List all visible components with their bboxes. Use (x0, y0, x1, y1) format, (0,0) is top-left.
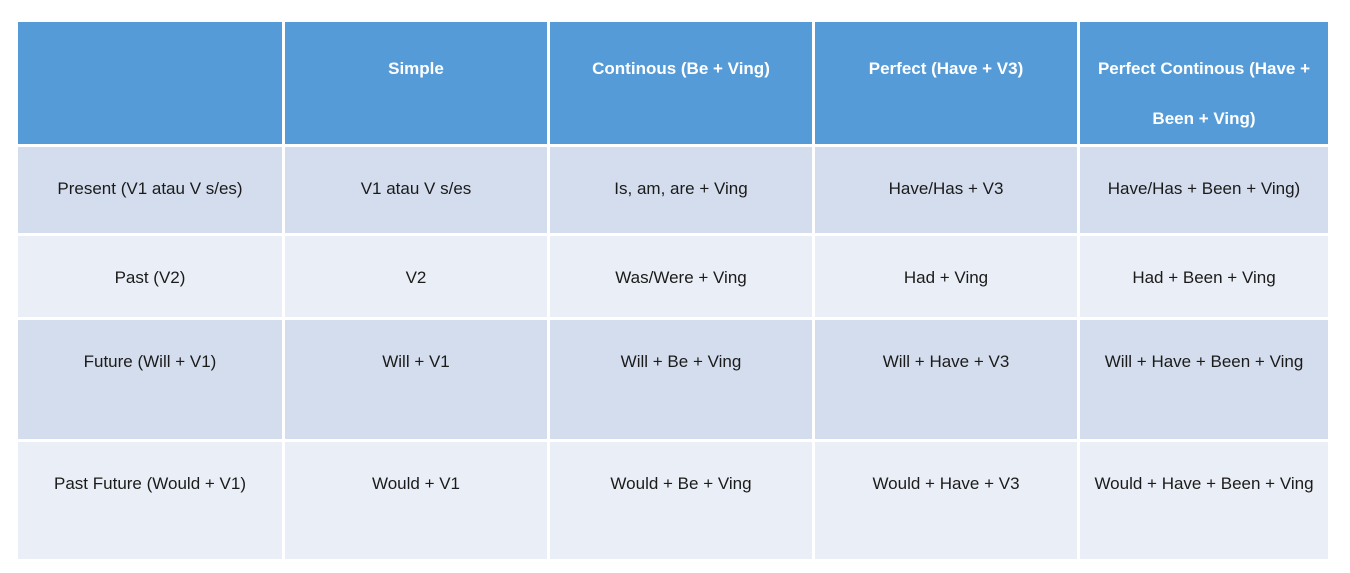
cell-future-perfect-continuous: Will + Have + Been + Ving (1080, 320, 1328, 439)
cell-past-future-perfect-continuous: Would + Have + Been + Ving (1080, 442, 1328, 559)
cell-past-future-continuous: Would + Be + Ving (550, 442, 812, 559)
cell-present-continuous: Is, am, are + Ving (550, 147, 812, 233)
table-header-row: Simple Continous (Be + Ving) Perfect (Ha… (18, 22, 1328, 144)
tense-table-container: Simple Continous (Be + Ving) Perfect (Ha… (18, 22, 1328, 559)
table-row: Past (V2) V2 Was/Were + Ving Had + Ving … (18, 236, 1328, 317)
row-label-present: Present (V1 atau V s/es) (18, 147, 282, 233)
cell-future-continuous: Will + Be + Ving (550, 320, 812, 439)
row-label-future: Future (Will + V1) (18, 320, 282, 439)
cell-past-perfect-continuous: Had + Been + Ving (1080, 236, 1328, 317)
cell-past-future-perfect: Would + Have + V3 (815, 442, 1077, 559)
column-header-continuous: Continous (Be + Ving) (550, 22, 812, 144)
column-header-perfect-continuous: Perfect Continous (Have + Been + Ving) (1080, 22, 1328, 144)
cell-past-continuous: Was/Were + Ving (550, 236, 812, 317)
cell-future-perfect: Will + Have + V3 (815, 320, 1077, 439)
cell-present-simple: V1 atau V s/es (285, 147, 547, 233)
english-tenses-table: Simple Continous (Be + Ving) Perfect (Ha… (15, 19, 1331, 562)
cell-past-simple: V2 (285, 236, 547, 317)
cell-present-perfect-continuous: Have/Has + Been + Ving) (1080, 147, 1328, 233)
cell-present-perfect: Have/Has + V3 (815, 147, 1077, 233)
table-row: Past Future (Would + V1) Would + V1 Woul… (18, 442, 1328, 559)
cell-past-future-simple: Would + V1 (285, 442, 547, 559)
column-header-simple: Simple (285, 22, 547, 144)
table-row: Present (V1 atau V s/es) V1 atau V s/es … (18, 147, 1328, 233)
column-header-corner (18, 22, 282, 144)
table-row: Future (Will + V1) Will + V1 Will + Be +… (18, 320, 1328, 439)
cell-past-perfect: Had + Ving (815, 236, 1077, 317)
cell-future-simple: Will + V1 (285, 320, 547, 439)
row-label-past-future: Past Future (Would + V1) (18, 442, 282, 559)
row-label-past: Past (V2) (18, 236, 282, 317)
table-header: Simple Continous (Be + Ving) Perfect (Ha… (18, 22, 1328, 144)
table-body: Present (V1 atau V s/es) V1 atau V s/es … (18, 147, 1328, 559)
column-header-perfect: Perfect (Have + V3) (815, 22, 1077, 144)
